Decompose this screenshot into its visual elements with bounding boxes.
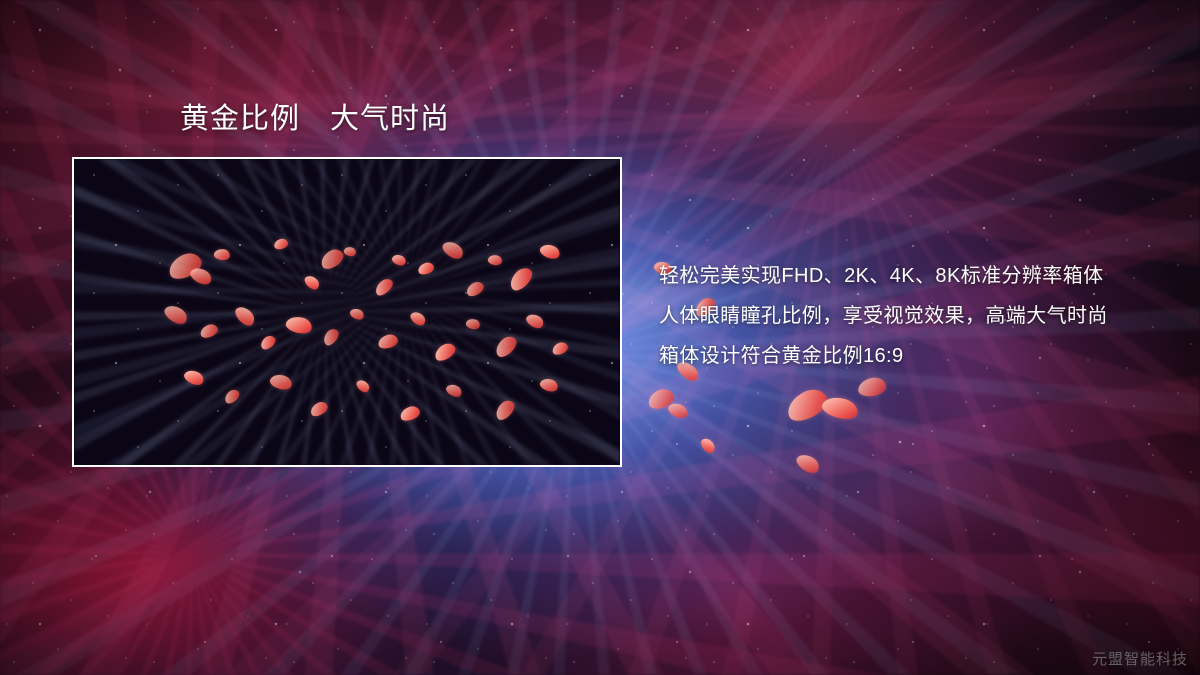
flower-petal bbox=[646, 386, 676, 411]
flower-petal bbox=[538, 376, 559, 393]
flower-petal bbox=[222, 387, 241, 406]
company-watermark: 元盟智能科技 bbox=[1092, 648, 1188, 669]
flower-petal bbox=[343, 245, 357, 257]
body-line-3: 箱体设计符合黄金比例16:9 bbox=[659, 336, 1159, 376]
flower-petal bbox=[417, 261, 435, 276]
flower-petal bbox=[372, 276, 395, 298]
flower-petal bbox=[538, 242, 561, 262]
flower-petal bbox=[182, 367, 206, 387]
flower-petal bbox=[440, 238, 466, 262]
flower-petal bbox=[465, 317, 481, 330]
framed-product-image bbox=[72, 157, 622, 467]
flower-petal bbox=[524, 311, 546, 331]
flower-petal bbox=[782, 384, 831, 426]
flower-petal bbox=[551, 340, 570, 356]
flower-petal bbox=[318, 246, 347, 272]
flower-petal bbox=[492, 397, 517, 423]
flower-petal bbox=[162, 302, 190, 328]
flower-petal bbox=[232, 303, 257, 329]
flower-petal bbox=[308, 399, 330, 418]
flower-petal bbox=[820, 393, 860, 422]
flower-petal bbox=[857, 376, 887, 398]
flower-petal bbox=[258, 333, 277, 351]
presentation-slide: 黄金比例 大气时尚 轻松完美实现FHD、2K、4K、8K标准分辨率箱体 人体眼睛… bbox=[0, 0, 1200, 675]
flower-petal bbox=[699, 436, 717, 455]
flower-petal bbox=[666, 400, 690, 421]
flower-petal bbox=[464, 279, 486, 298]
flower-petal bbox=[377, 333, 400, 350]
flower-petal bbox=[321, 326, 342, 348]
flower-petal bbox=[284, 314, 313, 336]
page-title: 黄金比例 大气时尚 bbox=[180, 101, 450, 137]
flower-petal bbox=[355, 377, 372, 394]
flower-petal bbox=[408, 309, 427, 328]
flower-petal bbox=[302, 273, 321, 292]
body-line-1: 轻松完美实现FHD、2K、4K、8K标准分辨率箱体 bbox=[659, 256, 1159, 296]
flower-petal bbox=[268, 372, 293, 392]
flower-petal bbox=[794, 451, 822, 477]
flower-petal bbox=[487, 254, 503, 267]
flower-petal bbox=[198, 322, 219, 339]
flower-petal bbox=[432, 340, 458, 363]
body-text-block: 轻松完美实现FHD、2K、4K、8K标准分辨率箱体 人体眼睛瞳孔比例，享受视觉效… bbox=[659, 256, 1159, 376]
body-line-2: 人体眼睛瞳孔比例，享受视觉效果，高端大气时尚 bbox=[659, 296, 1159, 336]
flower-petal bbox=[506, 264, 536, 294]
flower-petal bbox=[391, 253, 408, 268]
flower-petal bbox=[213, 248, 231, 262]
flower-petal bbox=[492, 333, 520, 360]
flower-petal bbox=[398, 404, 421, 423]
flower-petal bbox=[444, 382, 463, 400]
photo-petals bbox=[74, 159, 620, 465]
flower-petal bbox=[273, 238, 289, 251]
flower-petal bbox=[348, 306, 365, 321]
